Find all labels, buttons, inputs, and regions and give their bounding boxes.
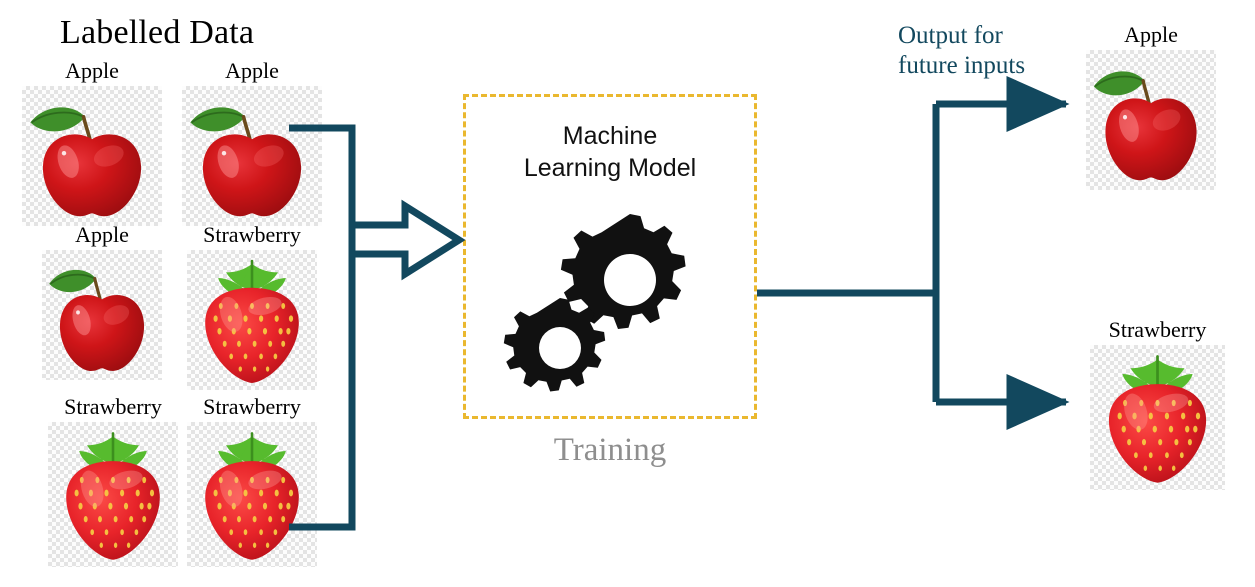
training-block-arrow [352,206,459,274]
training-label-apple: Apple [4,58,180,84]
model-title-line2: Learning Model [524,154,696,182]
prediction-image-strawberry[interactable] [1090,345,1225,490]
prediction-image-apple[interactable] [1086,50,1216,190]
model-title-line1: Machine [563,122,658,150]
model-title: Machine Learning Model [463,120,757,184]
training-image-apple[interactable] [182,86,322,226]
training-label-strawberry: Strawberry [169,394,335,420]
prediction-label-apple: Apple [1068,22,1234,48]
training-image-apple[interactable] [22,86,162,226]
training-label-apple: Apple [24,222,180,248]
page-title: Labelled Data [60,14,254,52]
training-caption: Training [463,432,757,469]
training-image-apple[interactable] [42,250,162,380]
training-label-apple: Apple [164,58,340,84]
training-label-strawberry: Strawberry [169,222,335,248]
training-image-strawberry[interactable] [187,250,317,390]
output-caption-line1: Output for [898,22,1003,49]
training-image-strawberry[interactable] [48,422,178,567]
output-caption: Output for future inputs [898,21,1058,80]
output-caption-line2: future inputs [898,52,1025,79]
gears-icon [500,205,720,410]
prediction-label-strawberry: Strawberry [1072,317,1243,343]
training-image-strawberry[interactable] [187,422,317,567]
diagram-canvas: Labelled Data Apple Apple [0,0,1255,587]
